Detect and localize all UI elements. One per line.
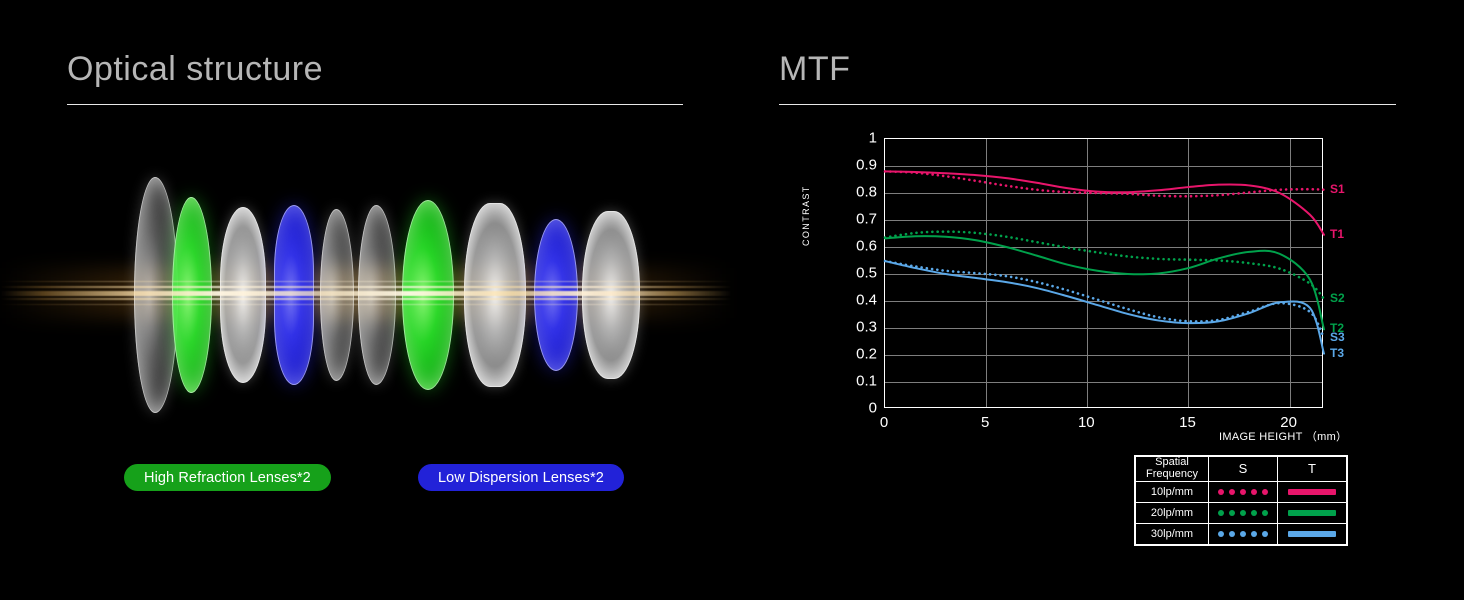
lens-rim xyxy=(464,203,526,387)
legend-sagittal-swatch xyxy=(1209,482,1278,503)
legend-row: 20lp/mm xyxy=(1136,503,1347,524)
y-tick-label: 0 xyxy=(784,400,884,417)
mtf-curve-s2 xyxy=(885,232,1324,299)
legend-tangential-swatch xyxy=(1278,503,1347,524)
lens-element-clear xyxy=(358,205,396,385)
legend-dot xyxy=(1229,531,1235,537)
legend-sagittal-swatch xyxy=(1209,503,1278,524)
lens-element-silver xyxy=(220,207,266,383)
curve-label-s1: S1 xyxy=(1330,182,1345,196)
lens-element-blue xyxy=(534,219,578,371)
legend-header-frequency-line2: Frequency xyxy=(1136,469,1208,481)
optical-structure-rule xyxy=(67,104,683,105)
y-tick-label: 0.7 xyxy=(784,211,884,228)
legend-frequency-label: 30lp/mm xyxy=(1136,524,1209,545)
lens-element-blue xyxy=(274,205,314,385)
legend-dot xyxy=(1218,510,1224,516)
mtf-curves xyxy=(885,139,1324,409)
low-dispersion-badge: Low Dispersion Lenses*2 xyxy=(418,464,624,491)
legend-row: 30lp/mm xyxy=(1136,524,1347,545)
legend-line xyxy=(1288,531,1336,537)
legend-tangential-swatch xyxy=(1278,482,1347,503)
legend-dot xyxy=(1251,489,1257,495)
curve-label-s2: S2 xyxy=(1330,291,1345,305)
lens-rim xyxy=(274,205,314,385)
legend-frequency-label: 20lp/mm xyxy=(1136,503,1209,524)
x-tick-label: 15 xyxy=(1179,414,1196,431)
lens-element-clear xyxy=(320,209,354,381)
legend-frequency-label: 10lp/mm xyxy=(1136,482,1209,503)
optical-structure-title: Optical structure xyxy=(67,50,323,89)
lens-rim xyxy=(534,219,578,371)
y-tick-label: 0.6 xyxy=(784,238,884,255)
mtf-legend-table: Spatial Frequency S T 10lp/mm20lp/mm30lp… xyxy=(1134,455,1348,546)
lens-rim xyxy=(172,197,212,393)
mtf-chart: CONTRAST 00.10.20.30.40.50.60.70.80.91 0… xyxy=(779,118,1399,578)
high-refraction-badge: High Refraction Lenses*2 xyxy=(124,464,331,491)
plot-area xyxy=(884,138,1323,408)
mtf-rule xyxy=(779,104,1396,105)
legend-dot xyxy=(1251,531,1257,537)
y-tick-label: 0.9 xyxy=(784,157,884,174)
legend-header-frequency: Spatial Frequency xyxy=(1136,457,1209,482)
optical-diagram xyxy=(0,150,732,440)
y-tick-label: 0.4 xyxy=(784,292,884,309)
legend-dot xyxy=(1262,531,1268,537)
legend-line xyxy=(1288,489,1336,495)
legend-tangential-swatch xyxy=(1278,524,1347,545)
page-root: Optical structure MTF High Refraction Le… xyxy=(0,0,1464,600)
lens-element-silver xyxy=(582,211,640,379)
mtf-curve-t3 xyxy=(885,261,1324,354)
legend-header-t: T xyxy=(1278,457,1347,482)
legend-header-s: S xyxy=(1209,457,1278,482)
legend-dot xyxy=(1240,489,1246,495)
mtf-curve-t1 xyxy=(885,171,1324,234)
y-tick-label: 0.5 xyxy=(784,265,884,282)
mtf-title: MTF xyxy=(779,50,850,89)
y-tick-label: 0.2 xyxy=(784,346,884,363)
legend-dot xyxy=(1262,510,1268,516)
x-tick-label: 5 xyxy=(981,414,989,431)
legend-dot xyxy=(1218,489,1224,495)
legend-row: 10lp/mm xyxy=(1136,482,1347,503)
lens-element-green xyxy=(402,200,454,390)
x-axis-label: IMAGE HEIGHT （mm） xyxy=(1219,428,1347,444)
legend-dot xyxy=(1229,489,1235,495)
legend-body: 10lp/mm20lp/mm30lp/mm xyxy=(1136,482,1347,545)
legend-line xyxy=(1288,510,1336,516)
low-dispersion-badge-label: Low Dispersion Lenses*2 xyxy=(438,470,604,486)
lens-rim xyxy=(402,200,454,390)
legend-dot xyxy=(1240,531,1246,537)
x-tick-label: 10 xyxy=(1078,414,1095,431)
curve-label-t1: T1 xyxy=(1330,227,1344,241)
y-tick-label: 0.1 xyxy=(784,373,884,390)
legend-dot xyxy=(1218,531,1224,537)
legend-dot xyxy=(1251,510,1257,516)
x-tick-label: 0 xyxy=(880,414,888,431)
high-refraction-badge-label: High Refraction Lenses*2 xyxy=(144,470,311,486)
curve-label-s3: S3 xyxy=(1330,330,1345,344)
lens-element-silver xyxy=(464,203,526,387)
legend-header-row: Spatial Frequency S T xyxy=(1136,457,1347,482)
y-tick-label: 0.8 xyxy=(784,184,884,201)
lens-rim xyxy=(582,211,640,379)
lens-rim xyxy=(320,209,354,381)
y-tick-label: 1 xyxy=(784,130,884,147)
legend-sagittal-swatch xyxy=(1209,524,1278,545)
legend-dot xyxy=(1262,489,1268,495)
lens-rim xyxy=(220,207,266,383)
legend-dot xyxy=(1229,510,1235,516)
y-tick-label: 0.3 xyxy=(784,319,884,336)
curve-label-t3: T3 xyxy=(1330,346,1344,360)
legend-dot xyxy=(1240,510,1246,516)
mtf-curve-t2 xyxy=(885,236,1324,329)
lens-element-green xyxy=(172,197,212,393)
lens-rim xyxy=(358,205,396,385)
